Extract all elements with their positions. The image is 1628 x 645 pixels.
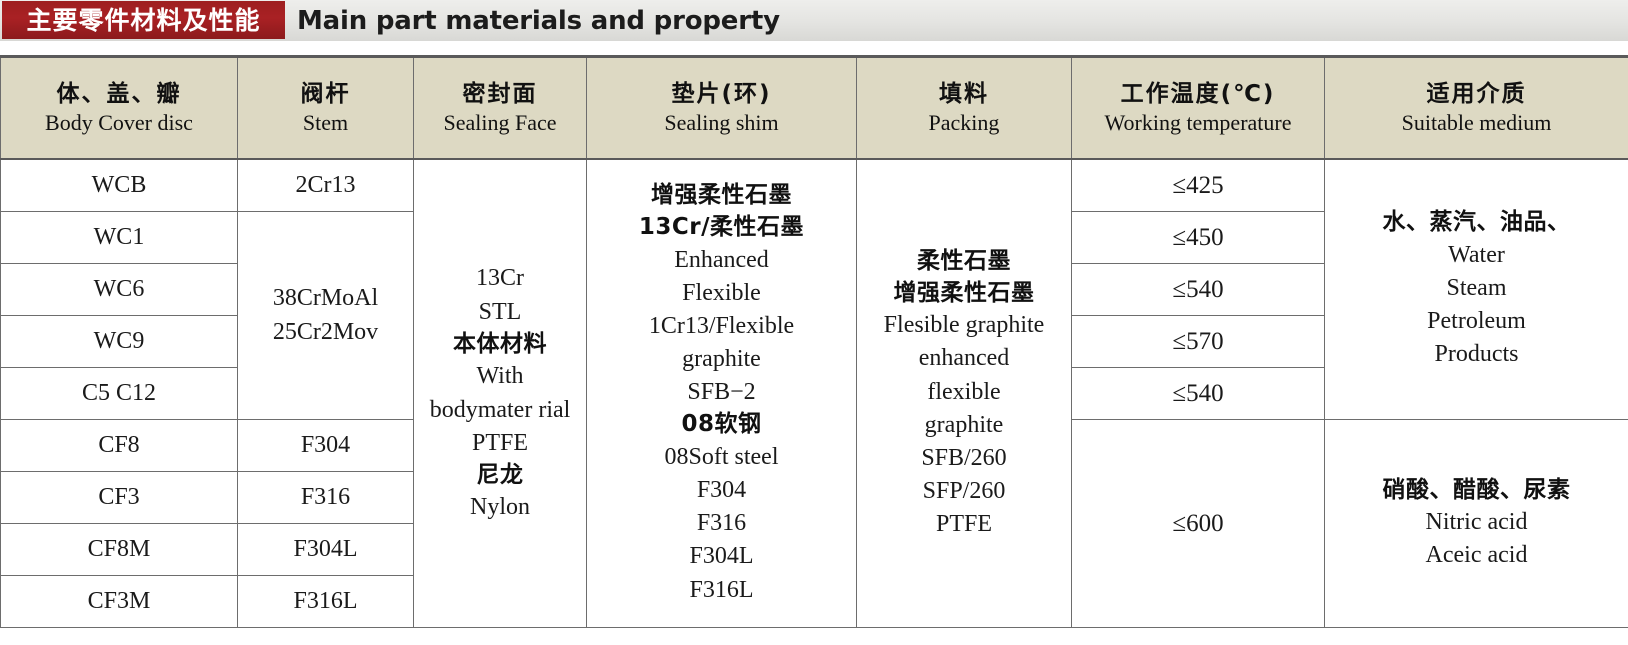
title-english-text: Main part materials and property — [297, 0, 780, 41]
col-header-cn: 适用介质 — [1325, 80, 1628, 109]
sealing-shim-line: 1Cr13/Flexible — [587, 310, 856, 343]
col-header-en: Sealing shim — [587, 109, 856, 137]
col-header-en: Packing — [857, 109, 1071, 137]
sealing-face-line: 本体材料 — [414, 329, 586, 361]
cell-body-cover-disc: CF3M — [1, 576, 238, 628]
packing-line: SFP/260 — [857, 475, 1071, 508]
sealing-shim-line: Flexible — [587, 277, 856, 310]
packing-line: flexible — [857, 376, 1071, 409]
sealing-shim-line: 08Soft steel — [587, 441, 856, 474]
sealing-shim-line: Enhanced — [587, 244, 856, 277]
cell-body-cover-disc: CF8M — [1, 524, 238, 576]
cell-stem: F304L — [238, 524, 414, 576]
col-header-en: Sealing Face — [414, 109, 586, 137]
cell-stem: F316 — [238, 472, 414, 524]
col-header-en: Stem — [238, 109, 413, 137]
sealing-face-line: With — [414, 360, 586, 393]
cell-working-temperature: ≤425 — [1072, 159, 1325, 212]
cell-working-temperature: ≤450 — [1072, 212, 1325, 264]
cell-body-cover-disc: C5 C12 — [1, 368, 238, 420]
header-row: 体、盖、瓣 Body Cover disc 阀杆 Stem 密封面 Sealin… — [1, 57, 1628, 160]
col-header-cn: 垫片(环) — [587, 80, 856, 109]
suitable-medium-line: Products — [1325, 338, 1628, 371]
col-header-body-cover-disc: 体、盖、瓣 Body Cover disc — [1, 57, 238, 160]
packing-line: PTFE — [857, 508, 1071, 541]
packing-line: 柔性石墨 — [857, 246, 1071, 278]
suitable-medium-line: Nitric acid — [1325, 506, 1628, 539]
cell-body-cover-disc: WC6 — [1, 264, 238, 316]
table-body: WCB 2Cr13 13Cr STL 本体材料 With bodymater r… — [1, 159, 1628, 628]
cell-sealing-face: 13Cr STL 本体材料 With bodymater rial PTFE 尼… — [414, 159, 587, 628]
cell-body-cover-disc: CF3 — [1, 472, 238, 524]
sealing-shim-line: graphite — [587, 343, 856, 376]
col-header-stem: 阀杆 Stem — [238, 57, 414, 160]
col-header-packing: 填料 Packing — [857, 57, 1072, 160]
sealing-shim-line: SFB−2 — [587, 376, 856, 409]
cell-body-cover-disc: WCB — [1, 159, 238, 212]
title-chinese-banner: 主要零件材料及性能 — [2, 1, 285, 39]
table-row: WCB 2Cr13 13Cr STL 本体材料 With bodymater r… — [1, 159, 1628, 212]
col-header-cn: 填料 — [857, 80, 1071, 109]
cell-working-temperature: ≤540 — [1072, 368, 1325, 420]
col-header-cn: 体、盖、瓣 — [1, 80, 237, 109]
stem-line: 25Cr2Mov — [238, 316, 413, 349]
packing-line: graphite — [857, 409, 1071, 442]
table-header: 体、盖、瓣 Body Cover disc 阀杆 Stem 密封面 Sealin… — [1, 57, 1628, 160]
cell-body-cover-disc: WC1 — [1, 212, 238, 264]
col-header-working-temperature: 工作温度(℃) Working temperature — [1072, 57, 1325, 160]
suitable-medium-line: Steam — [1325, 272, 1628, 305]
col-header-en: Body Cover disc — [1, 109, 237, 137]
sealing-face-line: Nylon — [414, 491, 586, 524]
suitable-medium-line: Aceic acid — [1325, 539, 1628, 572]
sealing-face-line: 尼龙 — [414, 460, 586, 492]
cell-working-temperature: ≤540 — [1072, 264, 1325, 316]
packing-line: 增强柔性石墨 — [857, 278, 1071, 310]
sealing-shim-line: 13Cr/柔性石墨 — [587, 212, 856, 244]
cell-working-temperature: ≤570 — [1072, 316, 1325, 368]
sealing-face-line: 13Cr — [414, 262, 586, 295]
sealing-shim-line: F316 — [587, 507, 856, 540]
suitable-medium-line: Petroleum — [1325, 305, 1628, 338]
suitable-medium-line: 水、蒸汽、油品、 — [1325, 207, 1628, 239]
title-chinese-text: 主要零件材料及性能 — [26, 8, 260, 33]
sealing-shim-line: 08软钢 — [587, 409, 856, 441]
sealing-shim-line: F304L — [587, 540, 856, 573]
sealing-face-line: PTFE — [414, 427, 586, 460]
main-part-materials-table: 体、盖、瓣 Body Cover disc 阀杆 Stem 密封面 Sealin… — [0, 55, 1628, 628]
sealing-face-line: bodymater rial — [414, 394, 586, 427]
cell-suitable-medium: 水、蒸汽、油品、 Water Steam Petroleum Products — [1325, 159, 1628, 420]
spec-table-container: 体、盖、瓣 Body Cover disc 阀杆 Stem 密封面 Sealin… — [0, 55, 1628, 645]
col-header-sealing-face: 密封面 Sealing Face — [414, 57, 587, 160]
cell-packing: 柔性石墨 增强柔性石墨 Flesible graphite enhanced f… — [857, 159, 1072, 628]
col-header-en: Suitable medium — [1325, 109, 1628, 137]
cell-sealing-shim: 增强柔性石墨 13Cr/柔性石墨 Enhanced Flexible 1Cr13… — [587, 159, 857, 628]
col-header-cn: 工作温度(℃) — [1072, 80, 1324, 109]
col-header-en: Working temperature — [1072, 109, 1324, 137]
cell-body-cover-disc: CF8 — [1, 420, 238, 472]
cell-body-cover-disc: WC9 — [1, 316, 238, 368]
suitable-medium-line: 硝酸、醋酸、尿素 — [1325, 475, 1628, 507]
cell-suitable-medium: 硝酸、醋酸、尿素 Nitric acid Aceic acid — [1325, 420, 1628, 628]
col-header-cn: 阀杆 — [238, 80, 413, 109]
col-header-suitable-medium: 适用介质 Suitable medium — [1325, 57, 1628, 160]
sealing-shim-line: F316L — [587, 574, 856, 607]
suitable-medium-line: Water — [1325, 239, 1628, 272]
cell-stem: F304 — [238, 420, 414, 472]
sealing-face-line: STL — [414, 296, 586, 329]
sealing-shim-line: 增强柔性石墨 — [587, 180, 856, 212]
page-title-bar: 主要零件材料及性能 Main part materials and proper… — [0, 0, 1628, 41]
sealing-shim-line: F304 — [587, 474, 856, 507]
col-header-sealing-shim: 垫片(环) Sealing shim — [587, 57, 857, 160]
col-header-cn: 密封面 — [414, 80, 586, 109]
cell-working-temperature: ≤600 — [1072, 420, 1325, 628]
packing-line: Flesible graphite — [857, 309, 1071, 342]
stem-line: 38CrMoAl — [238, 282, 413, 315]
cell-stem: F316L — [238, 576, 414, 628]
cell-stem: 2Cr13 — [238, 159, 414, 212]
packing-line: enhanced — [857, 342, 1071, 375]
packing-line: SFB/260 — [857, 442, 1071, 475]
cell-stem: 38CrMoAl 25Cr2Mov — [238, 212, 414, 420]
